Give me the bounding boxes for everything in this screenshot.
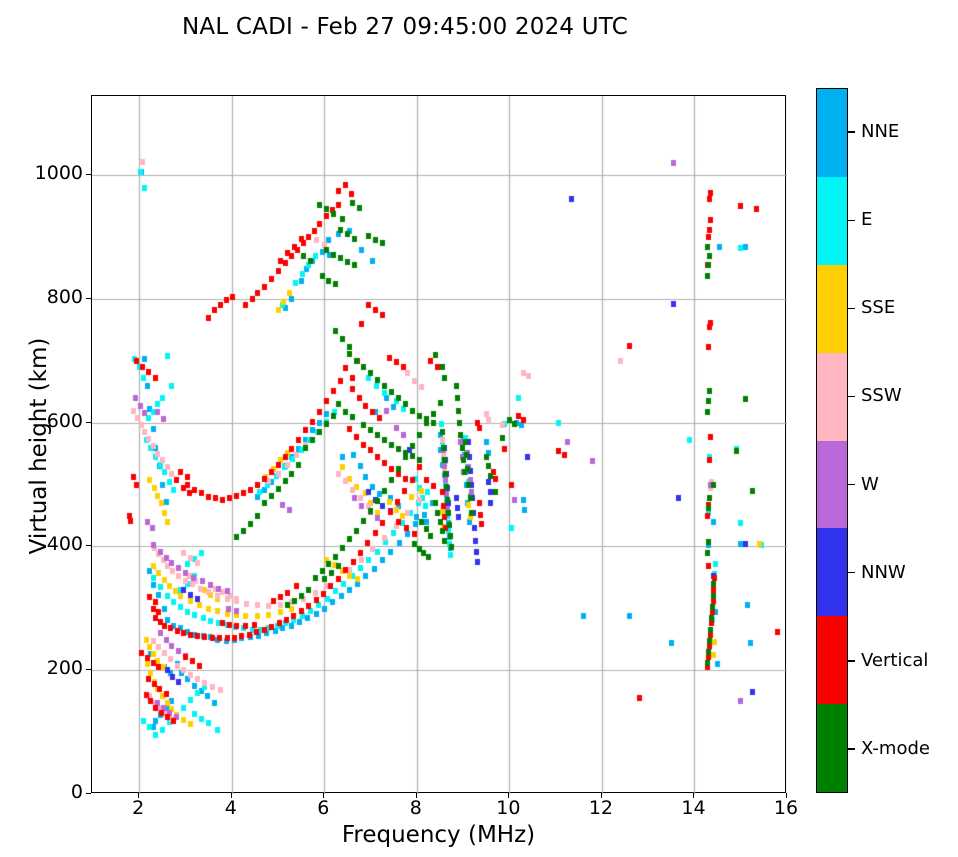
colorbar-tick-mark <box>848 308 855 309</box>
colorbar-category-label: E <box>861 211 872 229</box>
colorbar-category-label: Vertical <box>861 652 928 670</box>
colorbar-tick-mark <box>848 748 855 749</box>
colorbar-tick-labels: NNEESSESSWWNNWVerticalX-mode <box>848 88 958 793</box>
colorbar-category-label: SSW <box>861 387 902 405</box>
x-tick-mark <box>601 793 602 798</box>
colorbar-swatch-nnw[interactable] <box>817 528 847 616</box>
colorbar-category-label: SSE <box>861 299 895 317</box>
y-tick-mark <box>86 793 91 794</box>
colorbar-swatch-x-mode[interactable] <box>817 704 847 792</box>
x-tick-mark <box>231 793 232 798</box>
colorbar-tick-mark <box>848 131 855 132</box>
y-axis-label: Virtual height (km) <box>26 97 52 795</box>
colorbar-tick-mark <box>848 220 855 221</box>
colorbar-category-label: NNW <box>861 564 906 582</box>
plot-area[interactable] <box>91 95 786 793</box>
colorbar-swatch-ssw[interactable] <box>817 353 847 441</box>
x-tick-label: 12 <box>589 799 613 818</box>
y-tick-label: 600 <box>47 412 83 431</box>
y-tick-label: 400 <box>47 535 83 554</box>
y-tick-mark <box>86 422 91 423</box>
x-tick-label: 14 <box>681 799 705 818</box>
x-tick-label: 10 <box>496 799 520 818</box>
x-axis-label: Frequency (MHz) <box>91 822 786 848</box>
y-tick-mark <box>86 669 91 670</box>
x-tick-label: 4 <box>225 799 237 818</box>
page-title: NAL CADI - Feb 27 09:45:00 2024 UTC <box>0 14 810 40</box>
x-tick-mark <box>416 793 417 798</box>
y-tick-label: 200 <box>47 659 83 678</box>
x-tick-label: 6 <box>317 799 329 818</box>
colorbar-swatch-sse[interactable] <box>817 265 847 353</box>
y-tick-mark <box>86 298 91 299</box>
y-tick-label: 800 <box>47 288 83 307</box>
colorbar-category-label: NNE <box>861 123 899 141</box>
y-tick-mark <box>86 545 91 546</box>
colorbar-tick-mark <box>848 484 855 485</box>
y-tick-mark <box>86 174 91 175</box>
colorbar-swatch-vertical[interactable] <box>817 616 847 704</box>
x-tick-mark <box>693 793 694 798</box>
colorbar-tick-mark <box>848 660 855 661</box>
colorbar-category-label: W <box>861 476 879 494</box>
colorbar-tick-mark <box>848 396 855 397</box>
azimuth-colorbar[interactable] <box>816 88 848 793</box>
colorbar-swatch-e[interactable] <box>817 177 847 265</box>
x-tick-label: 8 <box>410 799 422 818</box>
x-tick-mark <box>138 793 139 798</box>
y-tick-label: 0 <box>71 783 83 802</box>
x-tick-mark <box>786 793 787 798</box>
x-tick-label: 2 <box>132 799 144 818</box>
x-tick-mark <box>508 793 509 798</box>
colorbar-swatch-w[interactable] <box>817 441 847 529</box>
colorbar-category-label: X-mode <box>861 740 930 758</box>
x-tick-mark <box>323 793 324 798</box>
scatter-data-layer <box>92 96 787 794</box>
colorbar-tick-mark <box>848 572 855 573</box>
ionogram-figure: NAL CADI - Feb 27 09:45:00 2024 UTC 0200… <box>0 0 958 857</box>
colorbar-swatch-nne[interactable] <box>817 89 847 177</box>
x-tick-label: 16 <box>774 799 798 818</box>
